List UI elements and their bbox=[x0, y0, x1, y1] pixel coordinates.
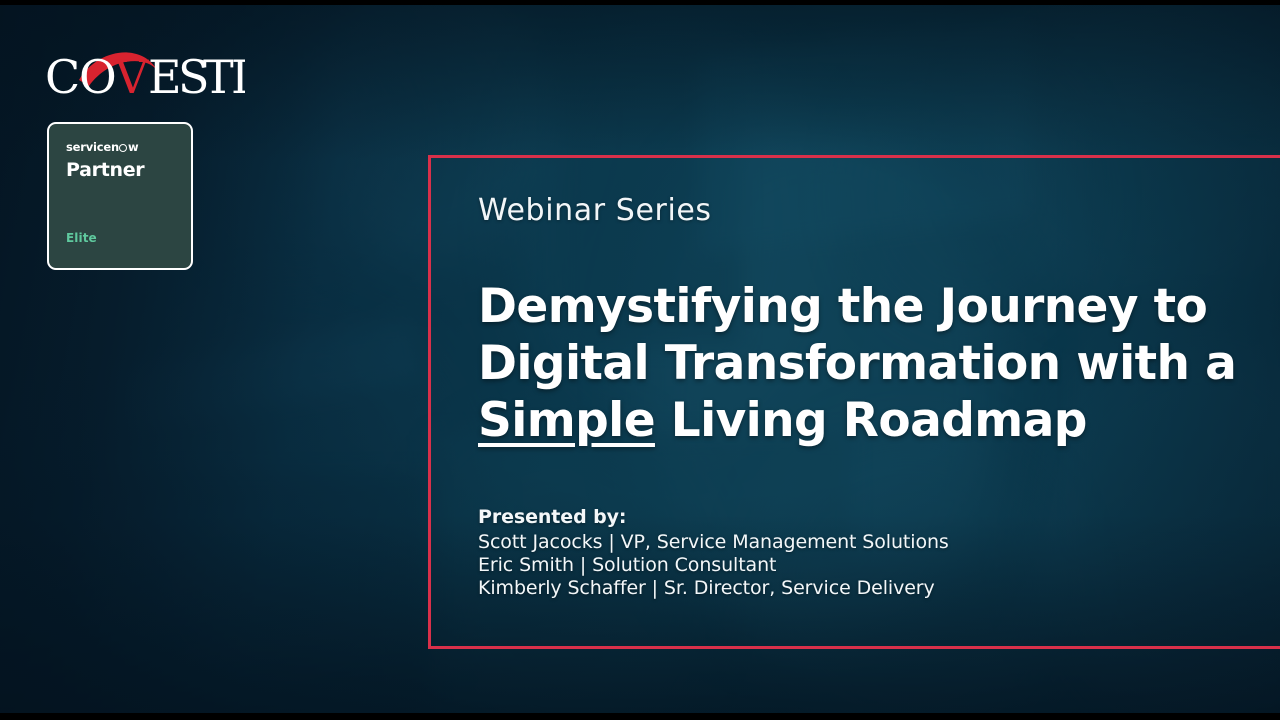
title-line-2: Digital Transformation with a bbox=[478, 335, 1238, 392]
title-line-3-rest: Living Roadmap bbox=[655, 393, 1087, 448]
svg-text:V: V bbox=[114, 50, 149, 104]
partner-label: Partner bbox=[66, 161, 191, 180]
title-line-1: Demystifying the Journey to bbox=[478, 278, 1238, 335]
servicenow-ring-icon bbox=[119, 144, 127, 152]
title-emphasis-word: Simple bbox=[478, 393, 655, 448]
servicenow-wordmark: servicenw bbox=[66, 142, 191, 154]
presenter-row-2: Eric Smith | Solution Consultant bbox=[478, 554, 1238, 577]
svg-text:E: E bbox=[148, 50, 182, 104]
presenter-row-3: Kimberly Schaffer | Sr. Director, Servic… bbox=[478, 577, 1238, 600]
presenters-heading: Presented by: bbox=[478, 505, 1238, 529]
page-title: Demystifying the Journey to Digital Tran… bbox=[478, 278, 1238, 449]
servicenow-wordmark-suffix: w bbox=[128, 142, 138, 154]
presenters-block: Presented by: Scott Jacocks | VP, Servic… bbox=[478, 505, 1238, 600]
servicenow-partner-badge: servicenw Partner Elite bbox=[47, 122, 193, 270]
svg-text:C: C bbox=[45, 50, 81, 104]
servicenow-wordmark-prefix: servicen bbox=[66, 142, 119, 154]
svg-text:I: I bbox=[231, 50, 245, 104]
content-panel: Webinar Series Demystifying the Journey … bbox=[478, 196, 1238, 600]
partner-tier-label: Elite bbox=[66, 232, 97, 244]
covestic-logo: C O V E S T I C bbox=[45, 46, 245, 108]
svg-text:O: O bbox=[79, 50, 117, 104]
svg-text:T: T bbox=[203, 50, 234, 104]
letterbox-top bbox=[0, 0, 1280, 5]
title-line-3: Simple Living Roadmap bbox=[478, 392, 1238, 449]
letterbox-bottom bbox=[0, 713, 1280, 720]
presenter-row-1: Scott Jacocks | VP, Service Management S… bbox=[478, 531, 1238, 554]
series-eyebrow: Webinar Series bbox=[478, 196, 1238, 226]
webinar-title-slide: C O V E S T I C servicenw Partner Elite … bbox=[0, 0, 1280, 720]
